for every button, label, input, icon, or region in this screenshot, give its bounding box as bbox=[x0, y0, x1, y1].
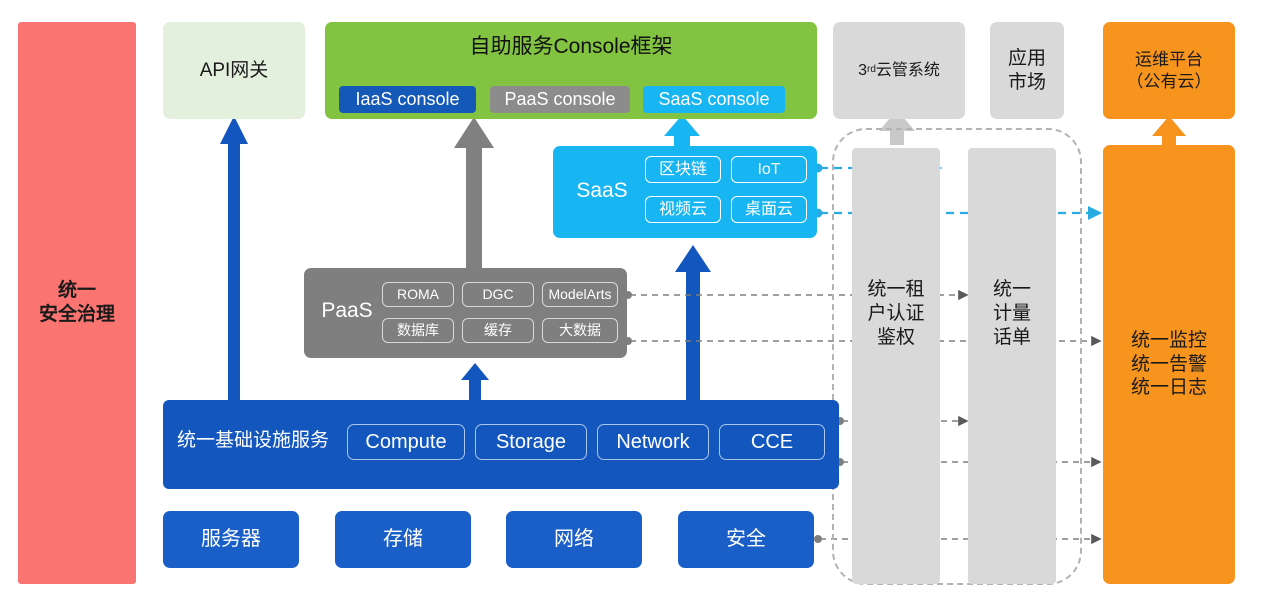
third-party-cloud-management-box: 3rd云管系统 bbox=[833, 22, 965, 119]
paas-chip-dgc[interactable]: DGC bbox=[462, 282, 534, 307]
infrastructure-label: 统一基础设施服务 bbox=[177, 429, 329, 453]
ops-platform-public-cloud-box: 运维平台 （公有云） bbox=[1103, 22, 1235, 119]
shared-service-metering-billing-column: 统一 计量 话单 bbox=[968, 148, 1056, 584]
unified-infrastructure-service-bar: 统一基础设施服务 Compute Storage Network CCE bbox=[163, 400, 839, 489]
arrow-ops-body-to-top bbox=[1152, 116, 1186, 148]
architecture-diagram: 统一 安全治理 API网关 自助服务Console框架 IaaS console… bbox=[0, 0, 1265, 605]
resource-box-network[interactable]: 网络 bbox=[506, 511, 642, 568]
third-party-label-sup: rd bbox=[867, 64, 876, 77]
saas-label: SaaS bbox=[565, 178, 639, 204]
infra-chip-cce[interactable]: CCE bbox=[719, 424, 825, 460]
arrow-infra-to-saas bbox=[675, 245, 711, 403]
resource-box-security[interactable]: 安全 bbox=[678, 511, 814, 568]
console-frame-title: 自助服务Console框架 bbox=[325, 34, 817, 60]
saas-chip-iot[interactable]: IoT bbox=[731, 156, 807, 183]
paas-label: PaaS bbox=[312, 298, 382, 324]
api-gateway-box: API网关 bbox=[163, 22, 305, 119]
arrow-saas-to-console bbox=[664, 115, 700, 150]
arrow-infra-to-paas bbox=[461, 363, 489, 404]
shared-service-tenant-auth-column: 统一租 户认证 鉴权 bbox=[852, 148, 940, 584]
unified-security-governance-panel: 统一 安全治理 bbox=[18, 22, 136, 584]
paas-chip-roma[interactable]: ROMA bbox=[382, 282, 454, 307]
paas-chip-database[interactable]: 数据库 bbox=[382, 318, 454, 343]
paas-console-chip[interactable]: PaaS console bbox=[490, 86, 630, 113]
arrow-paas-to-console bbox=[454, 117, 494, 270]
infra-chip-compute[interactable]: Compute bbox=[347, 424, 465, 460]
iaas-console-chip[interactable]: IaaS console bbox=[339, 86, 476, 113]
saas-chip-desktop-cloud[interactable]: 桌面云 bbox=[731, 196, 807, 223]
arrow-infra-to-api-gateway bbox=[220, 116, 248, 400]
app-market-box: 应用 市场 bbox=[990, 22, 1064, 119]
paas-chip-bigdata[interactable]: 大数据 bbox=[542, 318, 618, 343]
saas-box: SaaS 区块链 IoT 视频云 桌面云 bbox=[553, 146, 817, 238]
infra-chip-storage[interactable]: Storage bbox=[475, 424, 587, 460]
saas-chip-blockchain[interactable]: 区块链 bbox=[645, 156, 721, 183]
paas-chip-cache[interactable]: 缓存 bbox=[462, 318, 534, 343]
resource-box-server[interactable]: 服务器 bbox=[163, 511, 299, 568]
saas-console-chip[interactable]: SaaS console bbox=[643, 86, 785, 113]
third-party-label-rest: 云管系统 bbox=[876, 61, 940, 81]
paas-chip-modelarts[interactable]: ModelArts bbox=[542, 282, 618, 307]
third-party-label-prefix: 3 bbox=[858, 61, 867, 81]
saas-chip-video-cloud[interactable]: 视频云 bbox=[645, 196, 721, 223]
infra-chip-network[interactable]: Network bbox=[597, 424, 709, 460]
unified-monitoring-alarm-log-panel: 统一监控 统一告警 统一日志 bbox=[1103, 145, 1235, 584]
paas-box: PaaS ROMA DGC ModelArts 数据库 缓存 大数据 bbox=[304, 268, 627, 358]
self-service-console-frame: 自助服务Console框架 IaaS console PaaS console … bbox=[325, 22, 817, 119]
resource-box-storage[interactable]: 存储 bbox=[335, 511, 471, 568]
